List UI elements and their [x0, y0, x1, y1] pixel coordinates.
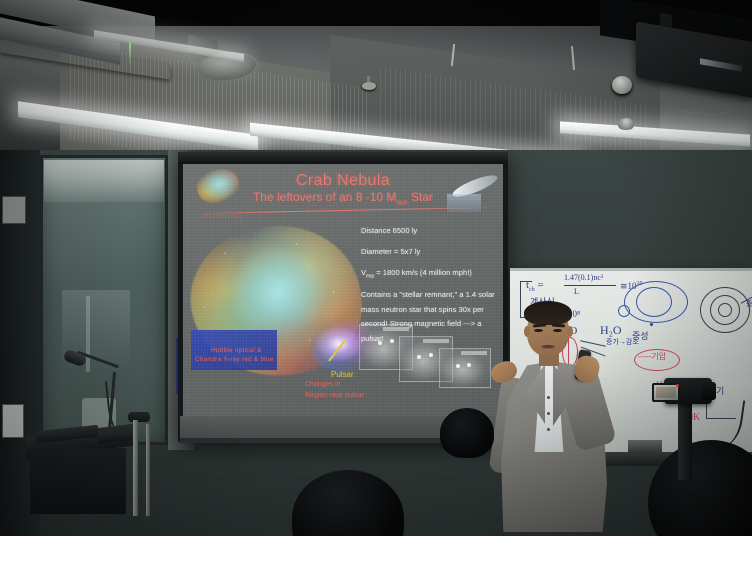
slide-subtitle-post: Star: [408, 190, 433, 204]
pulsar-label: Pulsar: [331, 370, 354, 379]
jet-box-shape: [447, 194, 481, 212]
caption-bottom-line1: Changes in: [305, 380, 364, 391]
slide-subtitle-sub: sun: [396, 199, 407, 206]
audience-head-center: [440, 408, 494, 458]
dome-camera-icon: [612, 76, 632, 94]
cart-handle[interactable]: [128, 412, 150, 422]
wall-plate: [2, 404, 24, 438]
fact-distance: Distance 6500 ly: [361, 224, 501, 239]
speaker-eye-left: [534, 329, 543, 332]
wb-note-side: 중심: [746, 299, 752, 309]
camcorder-lens-icon: [702, 382, 716, 400]
speaker-ear-left: [524, 326, 530, 337]
lecture-hall-photo: Crab Nebula The leftovers of an 8 -10 Ms…: [0, 0, 752, 564]
tripod: [678, 400, 692, 480]
vexp-subscript: exp: [366, 273, 374, 279]
wb-note-red-oval-text: -----기압: [638, 351, 666, 362]
vexp-value: = 1800 km/s (4 million mph!): [374, 268, 472, 277]
ceiling-spotlight: [618, 118, 634, 130]
fact-diameter: Diameter = 5x7 ly: [361, 245, 501, 260]
jet-thumbnail-icon: [445, 176, 499, 214]
speaker-mouth: [541, 345, 555, 349]
glass-window-highlight: [44, 160, 164, 202]
cart-post-right: [146, 424, 150, 516]
wb-note-formula: 1.47(0.1)nc²: [564, 273, 603, 282]
wall-switch-box[interactable]: [2, 196, 26, 224]
wb-concentric-inner: [718, 303, 732, 317]
caption-optical-line2: Chandra X-ray red & blue: [195, 355, 274, 365]
inset-star-dot: [456, 364, 460, 368]
shirt-button: [547, 412, 550, 415]
shirt-button: [547, 396, 550, 399]
camcorder-record-indicator: [676, 384, 679, 387]
inset-star-dot: [467, 363, 471, 367]
hst-credit-label: HST/WFPC2: [203, 214, 242, 220]
cart-post-left: [133, 420, 138, 516]
shirt-button: [547, 428, 550, 431]
bottom-white-band: [0, 536, 752, 564]
wb-bracket-top: [520, 281, 532, 282]
inset-frame-3: [439, 348, 491, 388]
caption-bottom: Changes in Region near pulsar: [305, 380, 364, 401]
camcorder-lcd-image: [656, 387, 676, 398]
speaker-ear-right: [567, 326, 573, 337]
inset-star-dot: [417, 355, 421, 359]
wb-fraction-bar: [564, 285, 616, 286]
speaker-hair: [524, 301, 572, 325]
glass-window-reflection-streak: [86, 296, 90, 372]
speaker-nose: [545, 333, 550, 342]
wb-orbit-point: [650, 323, 653, 326]
fact-vexp: Vexp = 1800 km/s (4 million mph!): [361, 266, 501, 282]
inset-star-dot: [429, 353, 433, 357]
wb-note-right: 기: [716, 384, 724, 397]
fact-paragraph: Contains a "stellar remnant," a 1.4 sola…: [361, 288, 501, 347]
speaker: [495, 300, 625, 530]
projection-screen-top-bar: [178, 152, 508, 164]
caption-bottom-line2: Region near pulsar: [305, 391, 364, 402]
speaker-eye-right: [553, 329, 562, 332]
slide-text-block: Distance 6500 ly Diameter = 5x7 ly Vexp …: [361, 224, 501, 353]
smoke-detector-icon: [362, 82, 376, 90]
wb-note-denominator: L: [574, 287, 579, 296]
presentation-slide: Crab Nebula The leftovers of an 8 -10 Ms…: [183, 164, 503, 416]
slide-subtitle-pre: The leftovers of an 8 -10 M: [253, 190, 396, 204]
podium-body: [30, 448, 126, 514]
wb-orbit-ellipse-inner: [636, 287, 672, 317]
ledge-object: [628, 440, 662, 452]
